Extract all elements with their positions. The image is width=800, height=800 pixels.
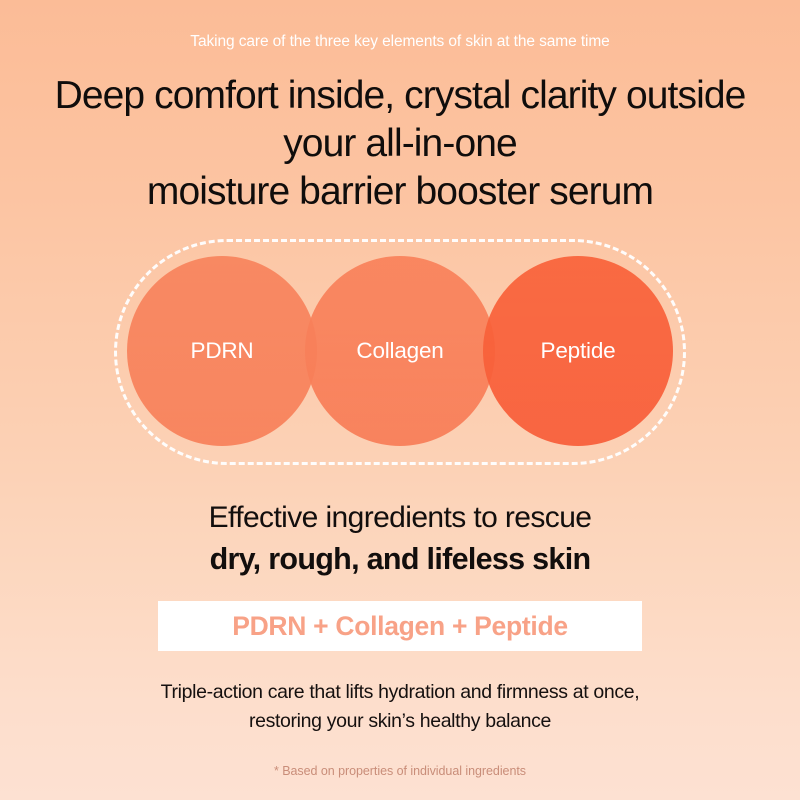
benefit-line-2: dry, rough, and lifeless skin [0, 538, 800, 580]
footnote-disclaimer: * Based on properties of individual ingr… [0, 764, 800, 778]
ingredient-callout-box: PDRN + Collagen + Peptide [158, 601, 642, 651]
body-copy-line-2: restoring your skin’s healthy balance [0, 707, 800, 736]
benefit-statement: Effective ingredients to rescue dry, rou… [0, 497, 800, 580]
venn-label-collagen: Collagen [305, 335, 495, 367]
headline-line-1: Deep comfort inside, crystal clarity out… [0, 72, 800, 120]
promo-poster: Taking care of the three key elements of… [0, 0, 800, 800]
venn-label-peptide: Peptide [483, 335, 673, 367]
venn-diagram: PDRN Collagen Peptide [0, 236, 800, 470]
ingredient-callout-text: PDRN + Collagen + Peptide [232, 613, 568, 640]
headline-line-2: your all-in-one [0, 120, 800, 168]
benefit-line-1: Effective ingredients to rescue [0, 497, 800, 538]
page-title: Deep comfort inside, crystal clarity out… [0, 72, 800, 216]
body-copy-line-1: Triple-action care that lifts hydration … [0, 678, 800, 707]
body-copy: Triple-action care that lifts hydration … [0, 678, 800, 736]
eyebrow-text: Taking care of the three key elements of… [0, 33, 800, 51]
headline-line-3: moisture barrier booster serum [0, 168, 800, 216]
venn-label-pdrn: PDRN [127, 335, 317, 367]
